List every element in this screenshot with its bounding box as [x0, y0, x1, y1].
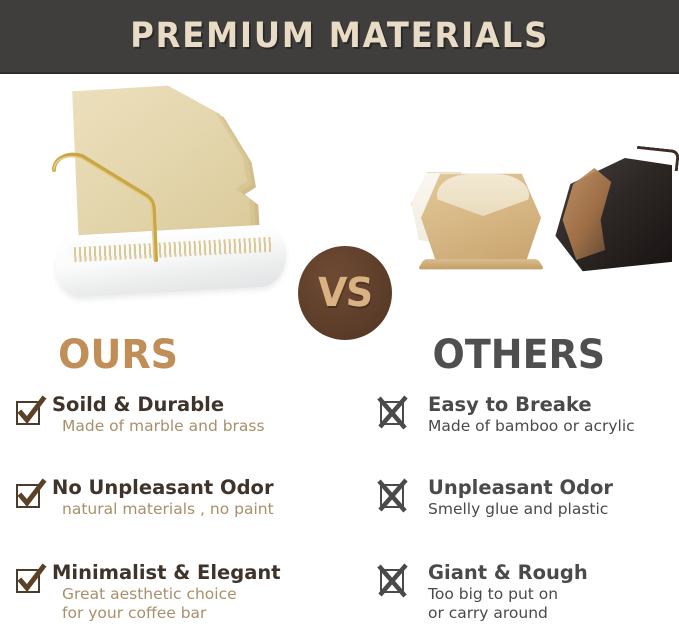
list-item-subtitle: Smelly glue and plastic [428, 500, 679, 519]
list-item-title: Giant & Rough [428, 561, 679, 585]
product-comparison-stage: VS [0, 74, 679, 324]
list-item-subtitle-line2: for your coffee bar [62, 604, 344, 623]
list-item-subtitle: Great aesthetic choice [62, 585, 344, 604]
list-item-title: No Unpleasant Odor [52, 476, 344, 500]
list-item-title: Soild & Durable [52, 393, 344, 417]
list-item-subtitle: Made of marble and brass [62, 417, 344, 436]
cross-icon [378, 478, 408, 508]
list-item: Soild & Durable Made of marble and brass [14, 393, 344, 436]
others-heading: OTHERS [433, 332, 606, 378]
our-product-image [38, 80, 288, 305]
list-item-text: Giant & Rough Too big to put on or carry… [428, 561, 679, 623]
ours-heading: OURS [58, 332, 178, 378]
list-item-text: Minimalist & Elegant Great aesthetic cho… [52, 561, 344, 623]
vs-badge: VS [298, 246, 392, 340]
black-plastic-holder [540, 148, 676, 288]
cross-icon [378, 395, 408, 425]
list-item-text: No Unpleasant Odor natural materials , n… [52, 476, 344, 519]
bamboo-holder-foot [418, 259, 545, 269]
list-item-text: Unpleasant Odor Smelly glue and plastic [428, 476, 679, 519]
vs-label: VS [316, 270, 373, 316]
bamboo-holder [411, 154, 541, 284]
list-item-subtitle-line2: or carry around [428, 604, 679, 623]
list-item-subtitle: Made of bamboo or acrylic [428, 417, 679, 436]
premium-materials-infographic: PREMIUM MATERIALS VS [0, 0, 679, 639]
brass-wire [48, 136, 198, 266]
page-title: PREMIUM MATERIALS [130, 16, 549, 56]
list-item-title: Unpleasant Odor [428, 476, 679, 500]
list-item-subtitle: natural materials , no paint [62, 500, 344, 519]
others-feature-list: Easy to Breake Made of bamboo or acrylic… [378, 393, 679, 639]
list-item-text: Soild & Durable Made of marble and brass [52, 393, 344, 436]
list-item: Unpleasant Odor Smelly glue and plastic [378, 476, 679, 519]
black-holder-clip [635, 146, 679, 171]
ours-feature-list: Soild & Durable Made of marble and brass… [14, 393, 344, 639]
competitor-products-image [406, 146, 674, 296]
cross-icon [378, 563, 408, 593]
list-item: Minimalist & Elegant Great aesthetic cho… [14, 561, 344, 623]
list-item: Easy to Breake Made of bamboo or acrylic [378, 393, 679, 436]
check-icon [14, 478, 44, 508]
list-item-subtitle: Too big to put on [428, 585, 679, 604]
list-item-title: Easy to Breake [428, 393, 679, 417]
list-item: No Unpleasant Odor natural materials , n… [14, 476, 344, 519]
check-icon [14, 395, 44, 425]
header-banner: PREMIUM MATERIALS [0, 0, 679, 74]
list-item: Giant & Rough Too big to put on or carry… [378, 561, 679, 623]
check-icon [14, 563, 44, 593]
list-item-text: Easy to Breake Made of bamboo or acrylic [428, 393, 679, 436]
list-item-title: Minimalist & Elegant [52, 561, 344, 585]
